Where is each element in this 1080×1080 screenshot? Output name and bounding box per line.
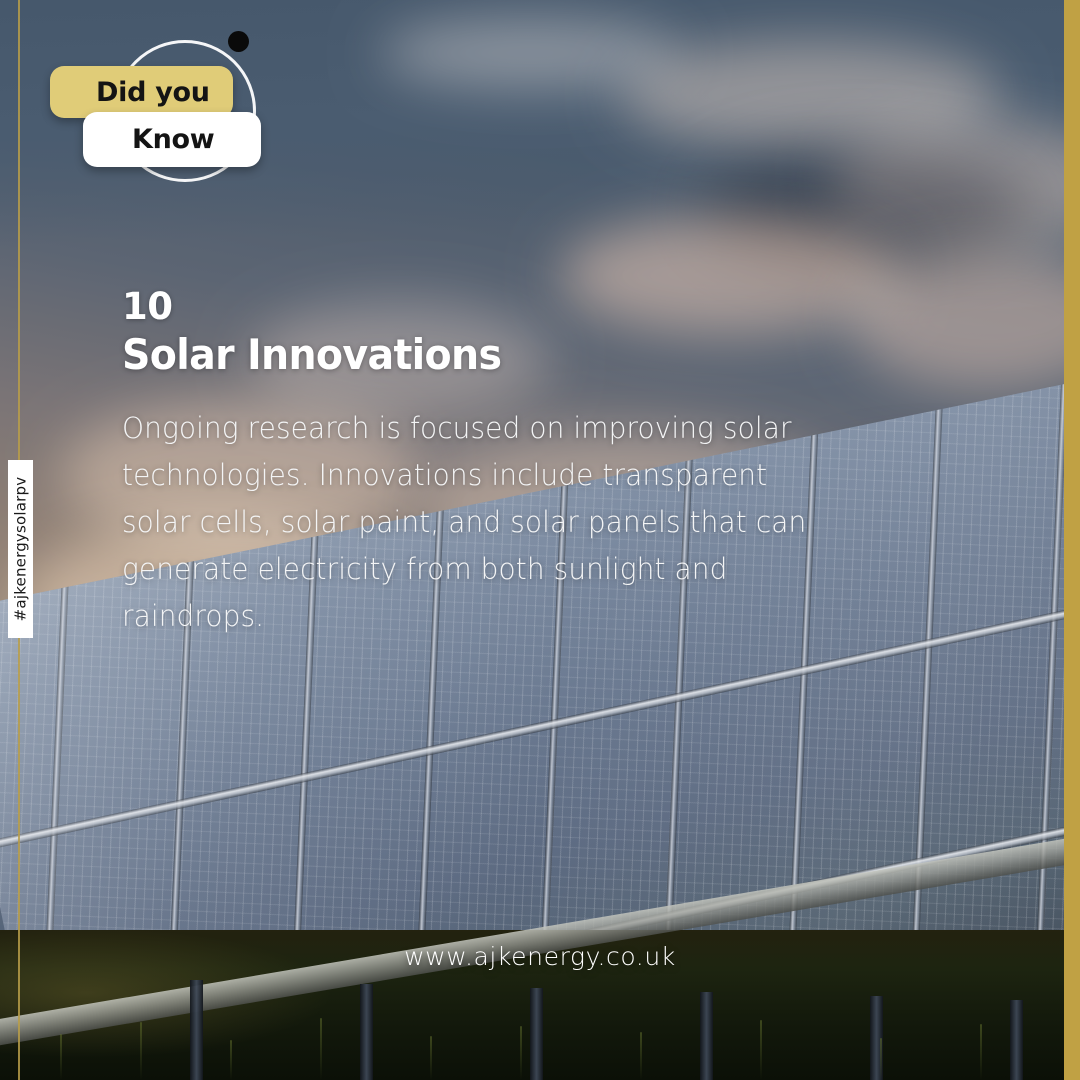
panel-support-post [1010,1000,1023,1080]
badge-dot-icon [228,31,249,52]
badge-line2-label: Know [132,124,214,155]
social-post-canvas: Did you Know #ajkenergysolarpv 10 Solar … [0,0,1080,1080]
badge-pill-bottom: Know [83,112,261,167]
badge-line1-label: Did you [96,77,210,108]
grass-blade [520,1026,522,1080]
hashtag-text: #ajkenergysolarpv [12,477,30,622]
body-paragraph: Ongoing research is focused on improving… [122,405,836,640]
grass-blade [760,1020,762,1080]
panel-support-post [190,980,203,1080]
badge-pill-top: Did you [50,66,233,118]
right-accent-bar [1064,0,1080,1080]
grass-blade [980,1024,982,1080]
grass-blade [640,1032,642,1080]
main-content-block: 10 Solar Innovations Ongoing research is… [122,288,862,640]
grass-blade [430,1036,432,1080]
kicker-number: 10 [122,288,862,325]
did-you-know-badge: Did you Know [48,26,278,176]
panel-support-post [530,988,543,1080]
grass-blade [60,1034,62,1080]
panel-support-post [360,984,373,1080]
hashtag-vertical-label: #ajkenergysolarpv [8,460,33,638]
grass-blade [320,1018,322,1080]
page-title: Solar Innovations [122,331,818,379]
website-url: www.ajkenergy.co.uk [0,942,1080,971]
grass-blade [140,1022,142,1080]
grass-blade [880,1038,882,1080]
grass-blade [230,1040,232,1080]
panel-support-post [700,992,713,1080]
